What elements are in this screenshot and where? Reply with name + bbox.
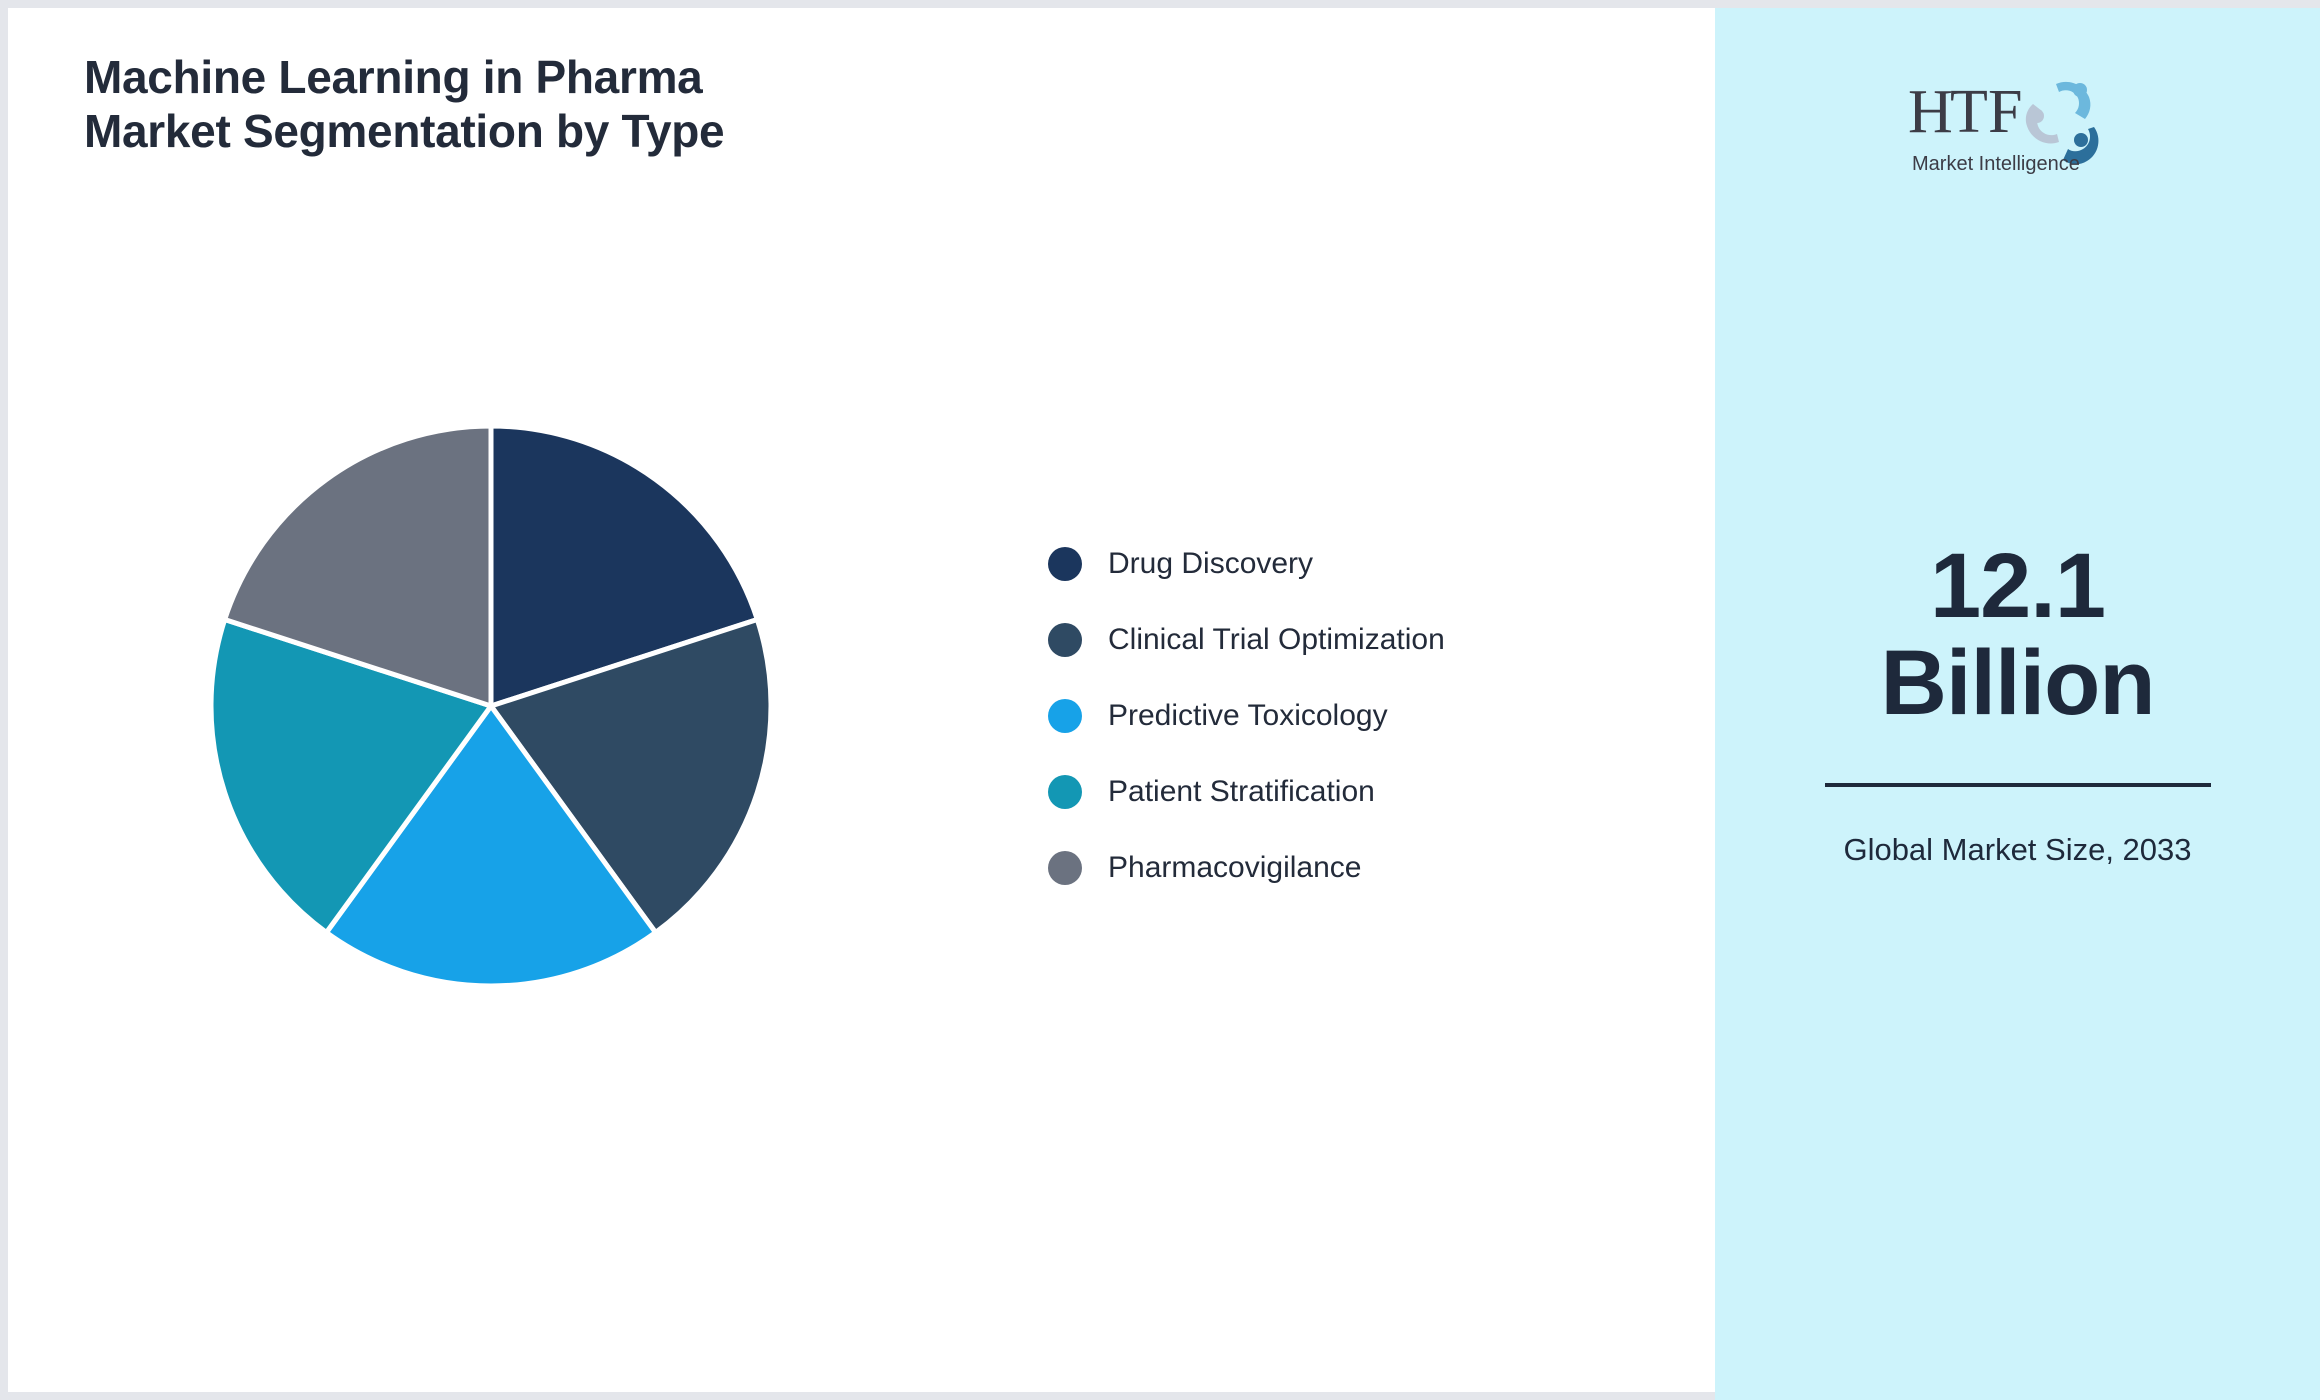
pie-chart [211,426,771,986]
stat-block: 12.1 Billion Global Market Size, 2033 [1715,538,2320,871]
logo-tagline-text: Market Intelligence [1912,153,2080,175]
logo-wordmark-text: F [1988,78,2022,146]
stat-value: 12.1 Billion [1715,538,2320,731]
stat-divider [1825,783,2211,787]
left-content-panel: Machine Learning in Pharma Market Segmen… [8,8,1715,1392]
legend-label: Patient Stratification [1108,775,1375,809]
legend-label: Clinical Trial Optimization [1108,623,1445,657]
legend-swatch-icon [1048,547,1082,581]
page-title: Machine Learning in Pharma Market Segmen… [84,50,1284,159]
stat-caption: Global Market Size, 2033 [1715,829,2320,871]
legend-swatch-icon [1048,851,1082,885]
logo-svg: H T F Market Intelligence [1904,70,2132,178]
legend-item-patient-stratification[interactable]: Patient Stratification [1048,754,1445,830]
right-stat-panel: H T F Market Intelligence 12.1 Billion [1715,8,2320,1400]
infographic-canvas: Machine Learning in Pharma Market Segmen… [0,0,2320,1400]
htf-market-intelligence-logo: H T F Market Intelligence [1904,70,2132,178]
legend-item-clinical-trial-optimization[interactable]: Clinical Trial Optimization [1048,602,1445,678]
legend-label: Drug Discovery [1108,547,1313,581]
logo-wordmark-text: H [1908,78,1953,146]
legend-item-predictive-toxicology[interactable]: Predictive Toxicology [1048,678,1445,754]
legend-swatch-icon [1048,699,1082,733]
legend-item-drug-discovery[interactable]: Drug Discovery [1048,526,1445,602]
legend-swatch-icon [1048,775,1082,809]
legend-label: Predictive Toxicology [1108,699,1388,733]
pie-chart-svg [211,426,771,986]
legend-item-pharmacovigilance[interactable]: Pharmacovigilance [1048,830,1445,906]
three-figures-circle-icon [2025,82,2098,164]
legend-swatch-icon [1048,623,1082,657]
legend-label: Pharmacovigilance [1108,851,1361,885]
logo-wordmark-text: T [1950,78,1988,146]
chart-legend: Drug Discovery Clinical Trial Optimizati… [1048,526,1445,906]
